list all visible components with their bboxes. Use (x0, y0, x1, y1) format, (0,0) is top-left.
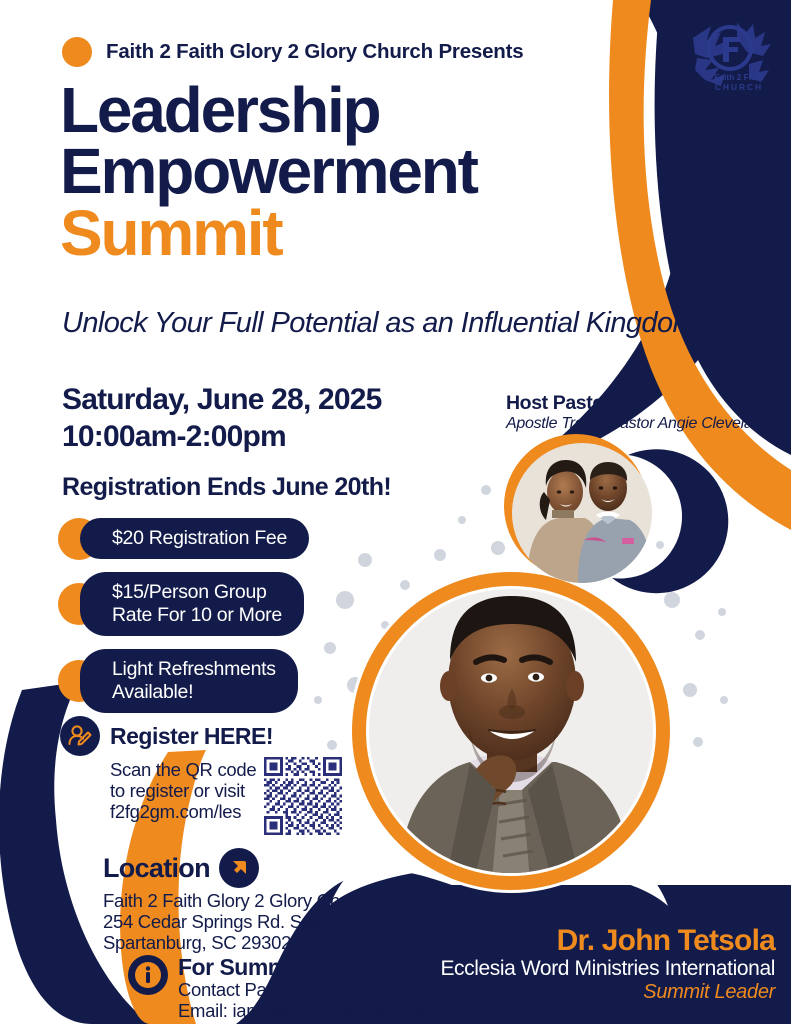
host-pastors-photo (512, 443, 652, 583)
host-pastors-names: Apostle Trey & Pastor Angie Cleveland (506, 415, 770, 433)
logo-line2: CHURCH (715, 82, 763, 92)
presents-row: Faith 2 Faith Glory 2 Glory Church Prese… (62, 37, 523, 67)
person-signup-icon (60, 716, 100, 756)
summit-info-details: Contact Pastor Sharon Byrd Email: iamhis… (178, 979, 467, 1021)
title-line-2: Empowerment (60, 141, 477, 202)
host-orange-disc (504, 434, 648, 578)
location-header: Location (103, 848, 375, 888)
register-instructions: Scan the QR code to register or visit f2… (110, 757, 256, 822)
summit-info-text: For Summit Information Contact Pastor Sh… (178, 955, 467, 1021)
speaker-photo (369, 589, 653, 880)
location-section: Location Faith 2 Faith Glory 2 Glory Chu… (103, 848, 375, 953)
presents-text: Faith 2 Faith Glory 2 Glory Church Prese… (106, 40, 523, 64)
pricing-pill-list: $20 Registration Fee $15/Person Group Ra… (58, 518, 309, 726)
list-item: Light Refreshments Available! (58, 649, 309, 713)
location-title: Location (103, 853, 210, 884)
speaker-orange-ring (359, 579, 663, 883)
pill-label: $20 Registration Fee (80, 518, 309, 559)
subtitle: Unlock Your Full Potential as an Influen… (62, 307, 790, 341)
host-pastors-text: Host Pastors Apostle Trey & Pastor Angie… (506, 392, 770, 433)
host-pastors-label: Host Pastors (506, 392, 770, 415)
pill-label: Light Refreshments Available! (80, 649, 298, 713)
event-time: 10:00am-2:00pm (62, 419, 382, 456)
title-line-1: Leadership (60, 80, 477, 141)
speaker-credit: Dr. John Tetsola Ecclesia Word Ministrie… (440, 925, 775, 1004)
register-header: Register HERE! (60, 716, 342, 756)
page-title: Leadership Empowerment Summit (60, 80, 477, 264)
pill-label: $15/Person Group Rate For 10 or More (80, 572, 304, 636)
event-date: Saturday, June 28, 2025 (62, 382, 382, 419)
speaker-role: Summit Leader (440, 980, 775, 1004)
list-item: $20 Registration Fee (58, 518, 309, 559)
flyer-canvas: Faith 2 Faith Glory 2 Glory Church Prese… (0, 0, 791, 1024)
information-icon (128, 955, 168, 995)
event-datetime: Saturday, June 28, 2025 10:00am-2:00pm (62, 382, 382, 455)
speaker-organization: Ecclesia Word Ministries International (440, 957, 775, 981)
register-title: Register HERE! (110, 723, 273, 750)
location-address: Faith 2 Faith Glory 2 Glory Church 254 C… (103, 890, 375, 953)
church-logo: Faith 2 Faith CHURCH (687, 14, 773, 100)
white-bite-under-speaker (330, 812, 668, 906)
register-section: Register HERE! Scan the QR code to regis… (60, 716, 342, 835)
register-body: Scan the QR code to register or visit f2… (110, 757, 342, 835)
list-item: $15/Person Group Rate For 10 or More (58, 572, 309, 636)
speaker-name: Dr. John Tetsola (440, 925, 775, 957)
logo-letter-f (723, 37, 741, 62)
dot-pattern (312, 465, 728, 905)
host-navy-crescent (612, 449, 728, 593)
white-ring-speaker-cut (349, 569, 673, 893)
qr-code-icon[interactable] (264, 757, 342, 835)
registration-deadline: Registration Ends June 20th! (62, 473, 391, 502)
map-pin-arrow-icon (219, 848, 259, 888)
summit-info-title: For Summit Information (178, 955, 467, 979)
logo-line1: Faith 2 Faith (714, 72, 763, 82)
host-photo-edge (512, 443, 652, 583)
summit-info-section: For Summit Information Contact Pastor Sh… (128, 955, 467, 1021)
title-line-3: Summit (60, 203, 477, 264)
filled-circle-icon (62, 37, 92, 67)
